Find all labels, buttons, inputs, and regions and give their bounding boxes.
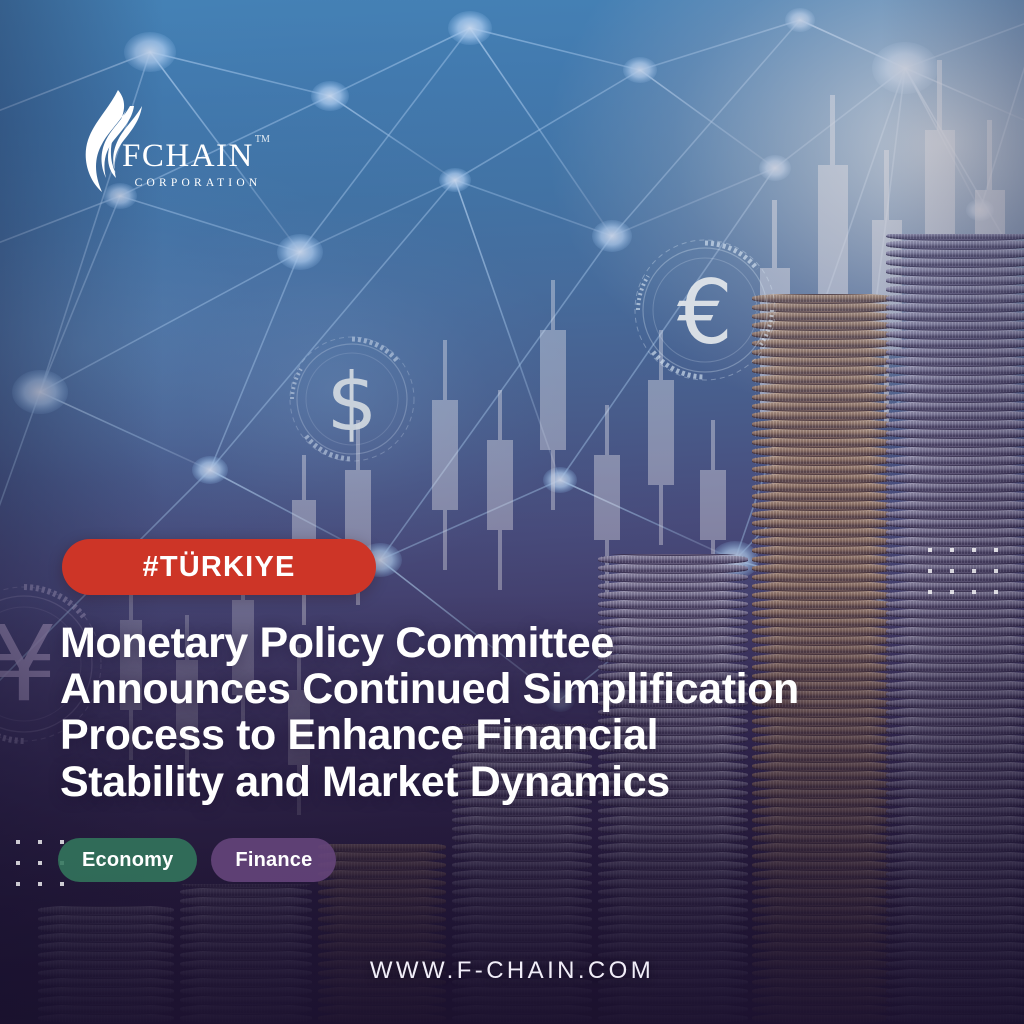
tag-finance[interactable]: Finance	[211, 838, 336, 882]
headline: Monetary Policy Committee Announces Cont…	[60, 620, 990, 805]
hashtag-badge[interactable]: #TÜRKIYE	[62, 539, 376, 595]
logo-wordmark-text: FCHAIN	[122, 138, 254, 174]
logo-wordmark: FCHAIN TM CORPORATION	[122, 140, 272, 190]
headline-line-3: Process to Enhance Financial	[60, 712, 990, 758]
logo-subtitle: CORPORATION	[122, 178, 272, 190]
tag-economy-label: Economy	[82, 849, 173, 872]
headline-line-4: Stability and Market Dynamics	[60, 759, 990, 805]
footer-website-label: WWW.F-CHAIN.COM	[370, 957, 654, 984]
category-tags: Economy Finance	[58, 838, 336, 882]
social-media-post: € $ ¥	[0, 0, 1024, 1024]
brand-logo[interactable]: FCHAIN TM CORPORATION	[78, 88, 268, 206]
tag-finance-label: Finance	[235, 849, 312, 872]
footer-website[interactable]: WWW.F-CHAIN.COM	[0, 957, 1024, 985]
dot-grid-right	[928, 548, 1016, 611]
headline-line-2: Announces Continued Simplification	[60, 666, 990, 712]
trademark-symbol: TM	[255, 135, 270, 145]
tag-economy[interactable]: Economy	[58, 838, 197, 882]
headline-line-1: Monetary Policy Committee	[60, 620, 990, 666]
hashtag-label: #TÜRKIYE	[142, 551, 295, 584]
